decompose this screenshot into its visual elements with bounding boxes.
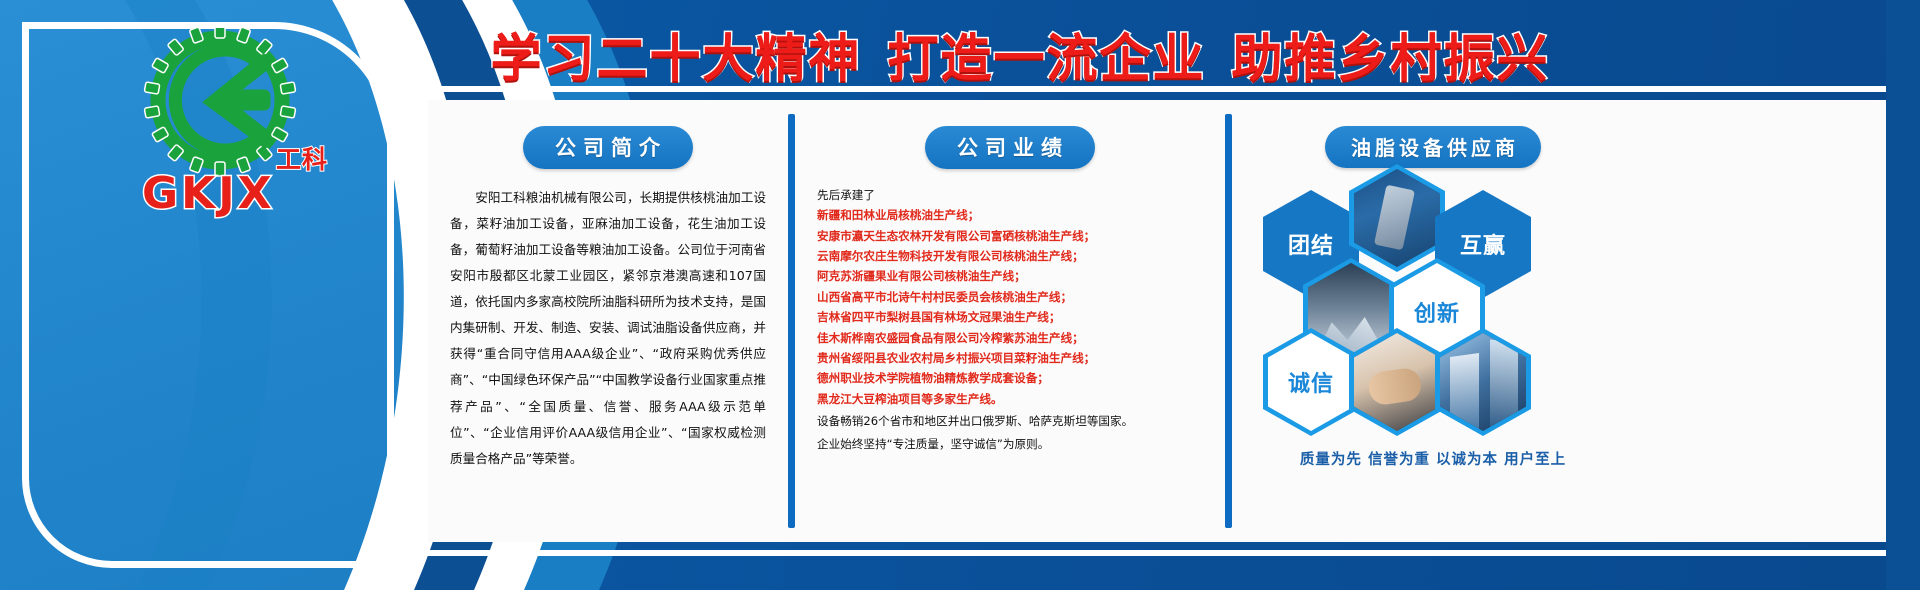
headline-part-1: 学习二十大精神: [490, 17, 861, 91]
list-item: 德州职业技术学院植物油精炼教学成套设备；: [817, 368, 1203, 388]
panel-title-achievements: 公司业绩: [925, 126, 1095, 169]
hex-label: 团结: [1288, 228, 1334, 260]
achievements-footer-line-1: 设备畅销26个省市和地区并出口俄罗斯、哈萨克斯坦等国家。: [817, 411, 1203, 432]
panel-title-supplier: 油脂设备供应商: [1325, 126, 1541, 168]
list-item: 吉林省四平市梨树县国有林场文冠果油生产线；: [817, 307, 1203, 327]
panel-divider-1: [788, 114, 795, 528]
panel-achievements: 公司业绩 先后承建了 新疆和田林业局核桃油生产线； 安康市瀛天生态农林开发有限公…: [795, 100, 1225, 542]
achievements-footer-line-2: 企业始终坚持“专注质量，坚守诚信”为原则。: [817, 434, 1203, 455]
list-item: 新疆和田林业局核桃油生产线；: [817, 205, 1203, 225]
intro-body-text: 安阳工科粮油机械有限公司，长期提供核桃油加工设备，菜籽油加工设备，亚麻油加工设备…: [450, 185, 766, 472]
list-item: 安康市瀛天生态农林开发有限公司富硒核桃油生产线；: [817, 226, 1203, 246]
list-item: 佳木斯桦南农盛园食品有限公司冷榨紫苏油生产线；: [817, 328, 1203, 348]
achievements-list: 新疆和田林业局核桃油生产线； 安康市瀛天生态农林开发有限公司富硒核桃油生产线； …: [817, 205, 1203, 409]
panel-company-intro: 公司简介 安阳工科粮油机械有限公司，长期提供核桃油加工设备，菜籽油加工设备，亚麻…: [428, 100, 788, 542]
hex-image-ship: [1349, 164, 1445, 272]
hex-label: 互赢: [1460, 228, 1506, 260]
hex-label: 诚信: [1288, 366, 1334, 398]
headline-part-3: 助推乡村振兴: [1232, 17, 1550, 91]
achievements-intro: 先后承建了: [817, 185, 1203, 205]
list-item: 阿克苏浙疆果业有限公司核桃油生产线；: [817, 266, 1203, 286]
list-item: 贵州省绥阳县农业农村局乡村振兴项目菜籽油生产线；: [817, 348, 1203, 368]
supplier-slogan: 质量为先 信誉为重 以诚为本 用户至上: [1254, 448, 1612, 469]
logo-cn-text: 工科: [276, 140, 328, 176]
ship-photo: [1354, 169, 1440, 267]
right-edge-strip: [1886, 0, 1920, 590]
panel-title-intro: 公司简介: [523, 126, 693, 169]
headline-part-2: 打造一流企业: [887, 17, 1205, 91]
list-item: 黑龙江大豆榨油项目等多家生产线。: [817, 389, 1203, 409]
panel-divider-2: [1225, 114, 1232, 528]
panel-supplier: 油脂设备供应商 团结 互赢 创新 诚信: [1232, 100, 1634, 542]
list-item: 山西省高平市北诗午村村民委员会核桃油生产线；: [817, 287, 1203, 307]
poster-canvas: 工科 GKJX 学习二十大精神 打造一流企业 助推乡村振兴 公司简介 安阳工科粮…: [0, 0, 1920, 590]
handshake-photo: [1354, 333, 1440, 431]
panels-container: 公司简介 安阳工科粮油机械有限公司，长期提供核桃油加工设备，菜籽油加工设备，亚麻…: [428, 100, 1900, 542]
hexagon-grid: 团结 互赢 创新 诚信: [1263, 184, 1603, 434]
city-photo: [1440, 333, 1526, 431]
page-title: 学习二十大精神 打造一流企业 助推乡村振兴: [420, 14, 1620, 94]
company-logo: 工科 GKJX: [120, 28, 320, 198]
hex-label: 创新: [1414, 296, 1460, 328]
logo-en-text: GKJX: [142, 168, 275, 219]
list-item: 云南摩尔农庄生物科技开发有限公司核桃油生产线；: [817, 246, 1203, 266]
